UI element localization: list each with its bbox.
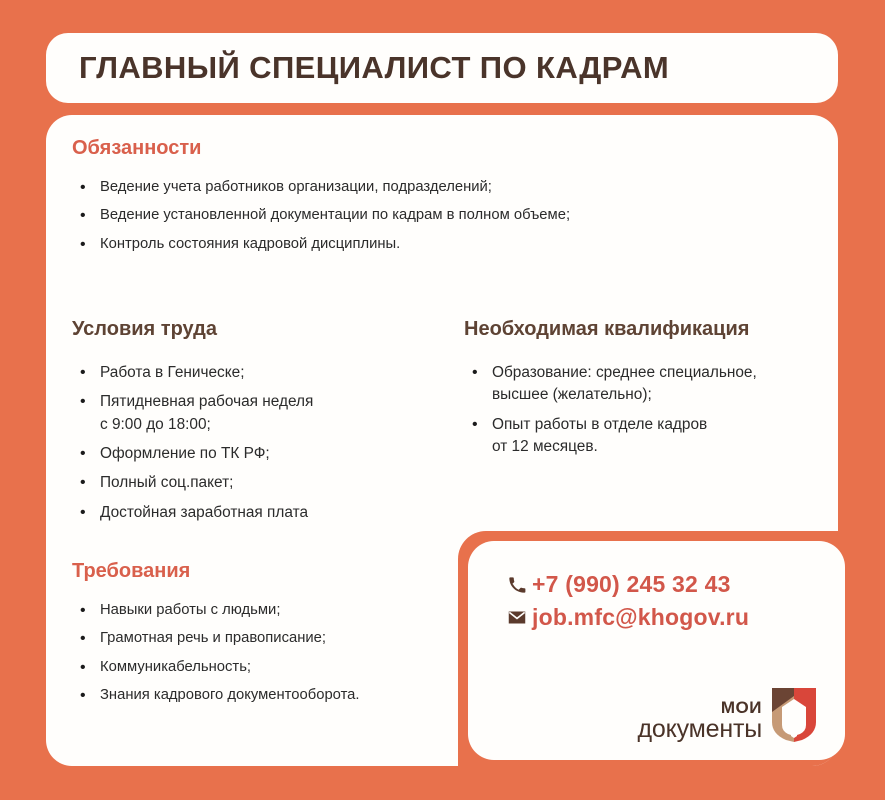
list-item: Знания кадрового документооборота. xyxy=(72,685,472,706)
contact-card: +7 (990) 245 32 43 job.mfc@khogov.ru МОИ… xyxy=(468,541,845,760)
mfc-logo-line1: МОИ xyxy=(721,699,762,716)
section-qualification: Необходимая квалификация Образование: ср… xyxy=(464,318,824,465)
list-item: Грамотная речь и правописание; xyxy=(72,628,472,649)
list-item: Оформление по ТК РФ; xyxy=(72,443,442,465)
section-conditions-heading: Условия труда xyxy=(72,318,442,340)
list-item: Полный соц.пакет; xyxy=(72,472,442,494)
contact-phone-row[interactable]: +7 (990) 245 32 43 xyxy=(508,571,749,598)
list-item: Коммуникабельность; xyxy=(72,657,472,678)
section-conditions: Условия труда Работа в Геническе; Пятидн… xyxy=(72,318,442,531)
mfc-logo: МОИ документы xyxy=(638,686,819,742)
mfc-logo-line2: документы xyxy=(638,717,762,742)
envelope-icon xyxy=(508,610,532,625)
mfc-logo-wordmark: МОИ документы xyxy=(638,699,762,742)
section-requirements-heading: Требования xyxy=(72,560,472,582)
mfc-shield-icon xyxy=(769,686,819,742)
section-qualification-list: Образование: среднее специальное, высшее… xyxy=(464,362,824,458)
contact-details: +7 (990) 245 32 43 job.mfc@khogov.ru xyxy=(508,571,749,637)
phone-icon xyxy=(508,576,532,594)
section-duties-heading: Обязанности xyxy=(72,137,772,159)
section-requirements: Требования Навыки работы с людьми; Грамо… xyxy=(72,560,472,714)
contact-phone-value: +7 (990) 245 32 43 xyxy=(532,571,731,598)
list-item: Контроль состояния кадровой дисциплины. xyxy=(72,234,772,255)
contact-email-row[interactable]: job.mfc@khogov.ru xyxy=(508,604,749,631)
page-title: ГЛАВНЫЙ СПЕЦИАЛИСТ ПО КАДРАМ xyxy=(46,50,669,86)
section-qualification-heading: Необходимая квалификация xyxy=(464,318,824,340)
list-item: Образование: среднее специальное, высшее… xyxy=(464,362,824,407)
list-item: Опыт работы в отделе кадров от 12 месяце… xyxy=(464,414,824,459)
section-duties-list: Ведение учета работников организации, по… xyxy=(72,177,772,255)
list-item: Пятидневная рабочая неделя с 9:00 до 18:… xyxy=(72,391,442,436)
list-item: Ведение установленной документации по ка… xyxy=(72,205,772,226)
title-card: ГЛАВНЫЙ СПЕЦИАЛИСТ ПО КАДРАМ xyxy=(46,33,838,103)
list-item: Навыки работы с людьми; xyxy=(72,600,472,621)
section-duties: Обязанности Ведение учета работников орг… xyxy=(72,137,772,262)
list-item: Достойная заработная плата xyxy=(72,502,442,524)
section-conditions-list: Работа в Геническе; Пятидневная рабочая … xyxy=(72,362,442,524)
list-item: Работа в Геническе; xyxy=(72,362,442,384)
contact-email-value: job.mfc@khogov.ru xyxy=(532,604,749,631)
list-item: Ведение учета работников организации, по… xyxy=(72,177,772,198)
section-requirements-list: Навыки работы с людьми; Грамотная речь и… xyxy=(72,600,472,707)
